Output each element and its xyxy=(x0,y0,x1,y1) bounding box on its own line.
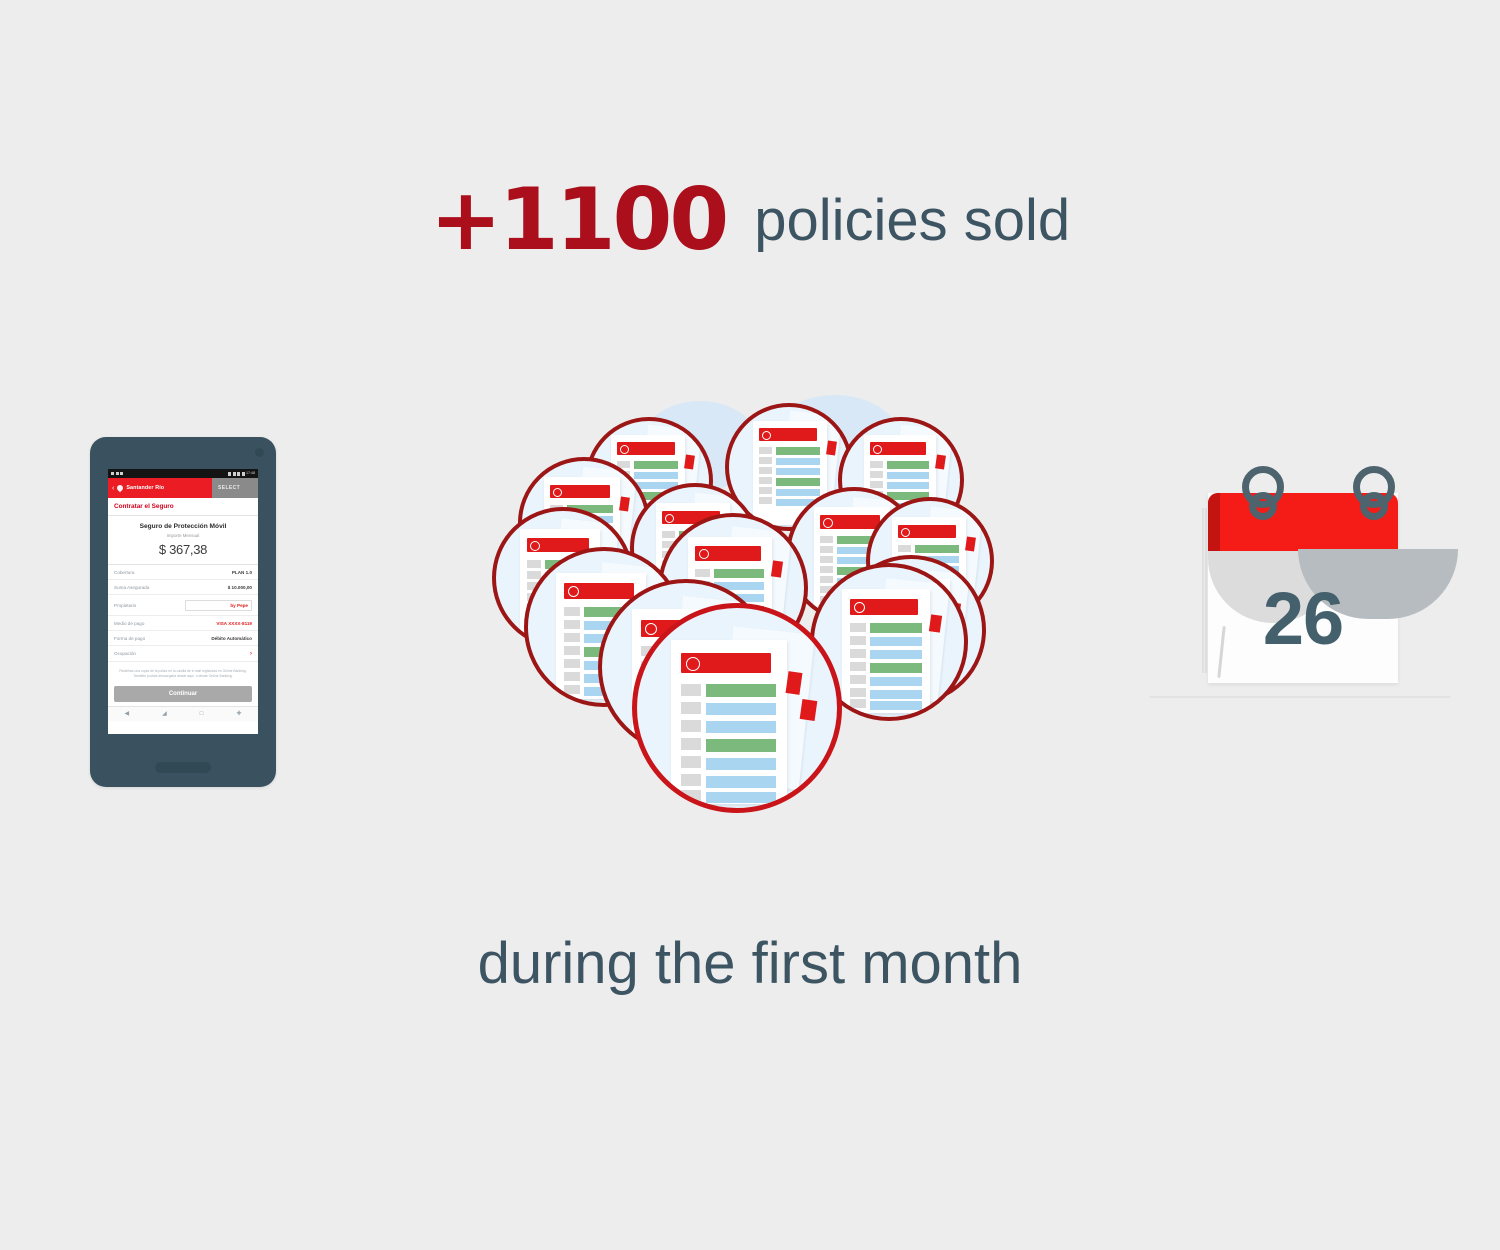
doc-red-tab xyxy=(684,454,695,469)
phone-mockup: 17:48 ‹ Santander Río SELECT Contratar e… xyxy=(90,437,276,787)
doc-logo-icon xyxy=(686,657,700,671)
detail-rows: Cobertura PLAN 1.0 Suma Asegurada $ 10.0… xyxy=(108,565,258,664)
caption: during the first month xyxy=(0,930,1500,997)
doc-row-blue xyxy=(870,637,922,646)
headline-number: +1100 xyxy=(430,170,726,270)
square-icon[interactable]: □ xyxy=(200,711,204,717)
status-bar: 17:48 xyxy=(108,469,258,478)
chevron-right-icon: › xyxy=(250,651,252,657)
product-price: $ 367,38 xyxy=(112,542,254,557)
doc-row-blue xyxy=(706,792,776,803)
doc-row-blue xyxy=(887,472,929,479)
doc-red-tab xyxy=(800,699,818,721)
doc-row-blue xyxy=(706,758,776,770)
doc-red-tab xyxy=(965,536,976,551)
phone-screen: 17:48 ‹ Santander Río SELECT Contratar e… xyxy=(108,469,258,734)
doc-row-blue xyxy=(776,468,820,475)
signal-icon[interactable]: ◢ xyxy=(162,711,167,717)
headline-label: policies sold xyxy=(754,188,1070,253)
calendar-header-shade xyxy=(1208,493,1220,553)
table-row[interactable]: Medio de pago VISA XXXX-8119 xyxy=(108,616,258,631)
doc-row-blue xyxy=(870,701,922,710)
doc-logo-icon xyxy=(645,623,657,635)
calendar-day-number: 26 xyxy=(1208,576,1398,661)
doc-row-blue xyxy=(887,482,929,489)
app-bar-brand: Santander Río xyxy=(126,485,164,491)
row-key: Forma de pago xyxy=(114,636,145,641)
back-icon[interactable]: ◀ xyxy=(125,711,130,717)
calendar-ring-front-icon xyxy=(1360,492,1388,520)
row-value: PLAN 1.0 xyxy=(232,570,252,575)
doc-logo-icon xyxy=(665,514,674,523)
phone-camera-icon xyxy=(255,448,264,457)
table-row[interactable]: Ocupación › xyxy=(108,646,258,662)
calendar-icon: 26 xyxy=(1150,448,1460,713)
row-key: Suma Asegurada xyxy=(114,585,149,590)
doc-row-green xyxy=(870,623,922,633)
row-key: Ocupación xyxy=(114,651,136,656)
doc-logo-icon xyxy=(620,445,629,454)
doc-row-green xyxy=(887,461,929,469)
doc-row-blue xyxy=(776,489,820,496)
doc-row-blue xyxy=(706,721,776,733)
status-bar-right-icons: 17:48 xyxy=(228,472,255,476)
row-value: $ 10.000,00 xyxy=(228,585,252,590)
calendar-ring-front-icon xyxy=(1249,492,1277,520)
doc-logo-icon xyxy=(568,586,579,597)
doc-logo-icon xyxy=(553,488,562,497)
policy-document xyxy=(671,640,787,804)
doc-row-blue xyxy=(634,472,678,479)
chevron-left-icon[interactable]: ‹ xyxy=(112,485,114,492)
doc-logo-icon xyxy=(699,549,709,559)
doc-row-green xyxy=(870,663,922,673)
doc-row-green xyxy=(714,569,764,578)
continue-button[interactable]: Continuar xyxy=(114,686,252,702)
apps-icon[interactable]: ✚ xyxy=(236,711,241,717)
phone-home-button xyxy=(155,762,211,773)
doc-row-green xyxy=(915,545,959,553)
app-bar-tab-area[interactable]: SELECT xyxy=(212,478,258,498)
doc-logo-icon xyxy=(823,518,833,528)
doc-row-blue xyxy=(706,776,776,788)
doc-row-blue xyxy=(706,703,776,715)
table-row: Cobertura PLAN 1.0 xyxy=(108,565,258,580)
product-subtitle: Importe Mensual xyxy=(112,533,254,538)
tab-select: SELECT xyxy=(218,485,240,491)
doc-logo-icon xyxy=(854,602,865,613)
doc-row-green xyxy=(776,478,820,486)
doc-row-green xyxy=(776,447,820,455)
doc-row-blue xyxy=(776,458,820,465)
doc-red-tab xyxy=(935,454,946,469)
doc-red-tab xyxy=(929,614,942,632)
calendar-ground-shadow xyxy=(1150,696,1450,698)
doc-row-blue xyxy=(870,677,922,686)
doc-logo-icon xyxy=(530,541,540,551)
headline: +1100policies sold xyxy=(0,170,1500,270)
doc-row-green xyxy=(706,684,776,697)
doc-logo-icon xyxy=(873,445,882,454)
policy-documents-cluster xyxy=(480,395,1000,815)
owner-input[interactable]: by Pepe xyxy=(185,600,252,611)
app-bar: ‹ Santander Río SELECT xyxy=(108,478,258,498)
doc-red-tab xyxy=(826,440,837,455)
doc-red-tab xyxy=(619,496,630,511)
section-title: Contratar el Seguro xyxy=(108,498,258,516)
doc-row-green xyxy=(706,739,776,752)
product-block: Seguro de Protección Móvil Importe Mensu… xyxy=(108,516,258,565)
policy-circle-front xyxy=(632,603,842,813)
row-key: Cobertura xyxy=(114,570,134,575)
infographic-canvas: +1100policies sold 17:48 ‹ Santander Río xyxy=(0,0,1500,1250)
doc-logo-icon xyxy=(762,431,771,440)
row-key: Medio de pago xyxy=(114,621,144,626)
app-bar-brand-area: ‹ Santander Río xyxy=(108,478,212,498)
row-value: VISA XXXX-8119 xyxy=(216,621,252,626)
doc-logo-icon xyxy=(901,528,910,537)
status-bar-time: 17:48 xyxy=(246,472,255,476)
android-nav-bar: ◀ ◢ □ ✚ xyxy=(108,706,258,721)
doc-row-blue xyxy=(870,690,922,699)
policy-document xyxy=(842,589,930,713)
table-row: Suma Asegurada $ 10.000,00 xyxy=(108,580,258,595)
santander-flame-icon xyxy=(116,484,124,492)
row-key: Propietario xyxy=(114,603,136,608)
doc-row-green xyxy=(634,461,678,469)
row-value: Débito Automático xyxy=(211,636,252,641)
product-name: Seguro de Protección Móvil xyxy=(112,523,254,530)
row-value: by Pepe xyxy=(230,603,248,608)
status-bar-left-icons xyxy=(111,472,123,476)
legal-text: Recibirás una copia de la póliza en tu c… xyxy=(108,664,258,684)
doc-row-blue xyxy=(870,650,922,659)
table-row: Forma de pago Débito Automático xyxy=(108,631,258,646)
table-row[interactable]: Propietario by Pepe xyxy=(108,595,258,616)
